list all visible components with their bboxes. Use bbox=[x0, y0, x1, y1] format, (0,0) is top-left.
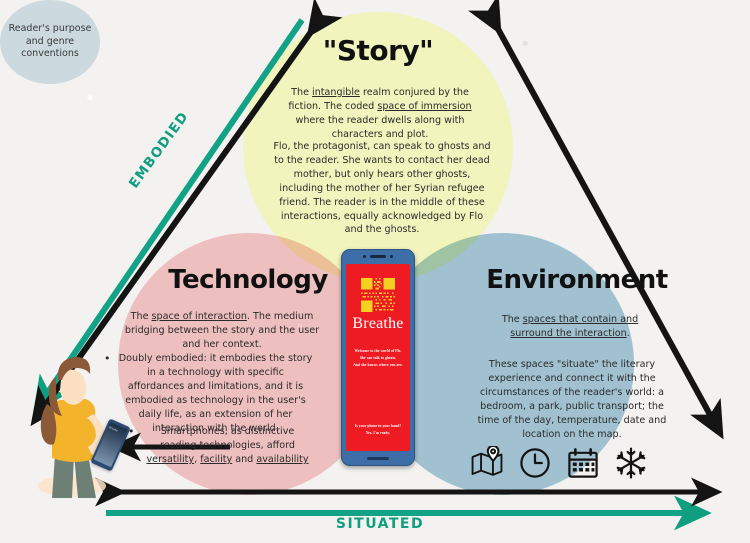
phone-prompt-block: Is your phone in your hand? Yes. I'm rea… bbox=[347, 423, 409, 437]
technology-paragraph-1: The space of interaction. The medium bri… bbox=[122, 310, 322, 352]
phone-answer-button[interactable]: Yes. I'm ready. bbox=[347, 430, 409, 437]
bullet-marker: • bbox=[128, 425, 135, 467]
page-title-story: "Story" bbox=[243, 34, 513, 67]
story-paragraph-2: Flo, the protagonist, can speak to ghost… bbox=[272, 140, 492, 237]
story-p1-c: where the reader dwells along with chara… bbox=[295, 115, 464, 140]
technology-bullet-1: • Doubly embodied: it embodies the story… bbox=[104, 352, 324, 435]
calendar-icon bbox=[566, 446, 600, 480]
phone-screen: Breathe Welcome to the world of Flo. She… bbox=[346, 264, 410, 451]
phone-earpiece-row bbox=[342, 250, 414, 263]
environment-paragraph-1: The spaces that contain and surround the… bbox=[480, 313, 660, 341]
home-indicator bbox=[367, 457, 389, 460]
phone-intro-line-2: She can talk to ghosts. bbox=[347, 355, 409, 362]
env-p1-a: The bbox=[502, 314, 523, 325]
phone-intro-text: Welcome to the world of Flo. She can tal… bbox=[347, 348, 409, 368]
technology-bullet-2: • Smartphones, as distinctive reading te… bbox=[128, 425, 324, 467]
phone-intro-line-3: And she knows where you are. bbox=[347, 362, 409, 369]
speaker-grille bbox=[370, 255, 386, 258]
environment-paragraph-2: These spaces "situate" the literary expe… bbox=[472, 358, 672, 441]
diagram-canvas: Reader's purpose and genre conventions bbox=[0, 0, 750, 543]
sensor-icon bbox=[390, 255, 393, 258]
phone-intro-line-1: Welcome to the world of Flo. bbox=[347, 348, 409, 355]
tech-b2-underline-versatility: versatility bbox=[146, 454, 194, 465]
snowflake-icon bbox=[614, 446, 648, 480]
story-p1-underline-immersion: space of immersion bbox=[377, 101, 471, 112]
clock-icon bbox=[518, 446, 552, 480]
app-name: Breathe bbox=[352, 315, 403, 333]
env-p1-b: . bbox=[627, 328, 630, 339]
readers-purpose-line-2: and genre bbox=[26, 36, 74, 47]
axis-label-embodied: EMBODIED bbox=[120, 101, 198, 199]
story-paragraph-1: The intangible realm conjured by the fic… bbox=[280, 86, 480, 142]
tech-b2-underline-facility: facility bbox=[200, 454, 232, 465]
environment-icons bbox=[470, 440, 650, 486]
tech-b2-underline-availability: availability bbox=[256, 454, 308, 465]
technology-bullet-2-text: Smartphones, as distinctive reading tech… bbox=[142, 425, 314, 467]
smartphone-mockup: Breathe Welcome to the world of Flo. She… bbox=[341, 249, 415, 466]
tech-b2-c: and bbox=[232, 454, 256, 465]
axis-label-situated: SITUATED bbox=[300, 516, 460, 532]
tech-p1-a: The bbox=[131, 311, 152, 322]
phone-home-area bbox=[342, 451, 414, 465]
qr-code-icon bbox=[361, 278, 395, 312]
readers-purpose-text: Reader's purpose and genre conventions bbox=[9, 23, 92, 60]
phone-prompt: Is your phone in your hand? bbox=[347, 423, 409, 430]
readers-purpose-line-3: conventions bbox=[21, 48, 79, 59]
front-camera-icon bbox=[363, 255, 366, 258]
technology-bullet-1-text: Doubly embodied: it embodies the story i… bbox=[118, 352, 314, 435]
env-p1-underline-spaces: spaces that contain and surround the int… bbox=[510, 314, 638, 339]
readers-purpose-line-1: Reader's purpose bbox=[9, 23, 92, 34]
readers-purpose-bubble: Reader's purpose and genre conventions bbox=[0, 0, 100, 84]
bullet-marker: • bbox=[104, 352, 111, 435]
map-pin-icon bbox=[470, 446, 504, 480]
tech-p1-underline-space-of-interaction: space of interaction bbox=[152, 311, 247, 322]
page-title-environment: Environment bbox=[462, 265, 692, 295]
tech-b2-a: Smartphones, as distinctive reading tech… bbox=[160, 426, 295, 451]
story-p1-underline-intangible: intangible bbox=[312, 87, 360, 98]
story-p1-a: The bbox=[291, 87, 312, 98]
